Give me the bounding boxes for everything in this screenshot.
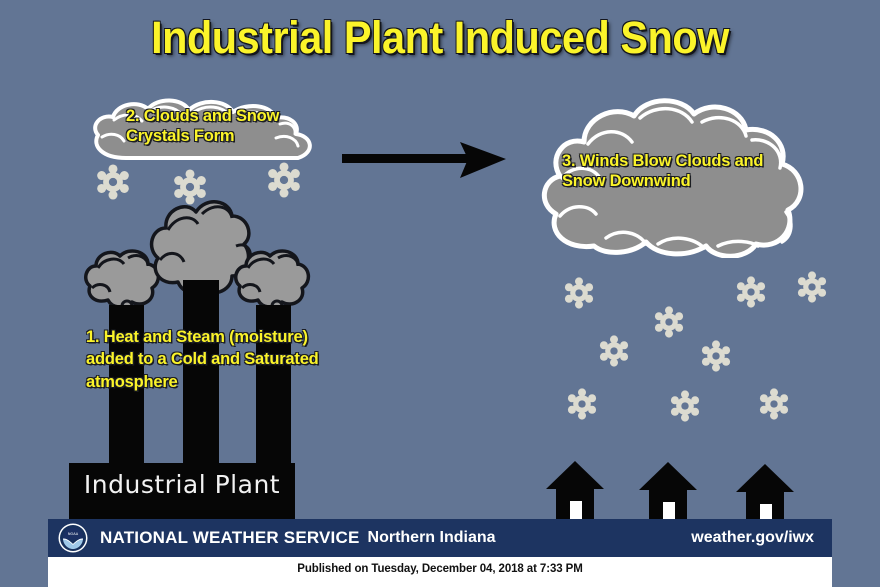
snowflake — [563, 277, 595, 314]
snowflake — [266, 162, 302, 203]
snowflake — [566, 388, 598, 425]
house — [637, 458, 699, 525]
house — [734, 460, 796, 527]
snowflake — [700, 340, 732, 377]
steam-puff — [152, 202, 251, 302]
wind-direction-arrow — [340, 138, 510, 187]
svg-text:NOAA: NOAA — [68, 532, 79, 536]
plant-name-label: Industrial Plant — [69, 470, 295, 499]
snowflake — [598, 335, 630, 372]
step-2-label: 2. Clouds and Snow Crystals Form — [126, 106, 279, 146]
page-title: Industrial Plant Induced Snow — [35, 12, 845, 64]
nws-url-label[interactable]: weather.gov/iwx — [691, 529, 814, 547]
step-1-label: 1. Heat and Steam (moisture) added to a … — [86, 326, 319, 393]
steam-puff — [86, 251, 159, 311]
snowflake — [758, 388, 790, 425]
step-3-label: 3. Winds Blow Clouds and Snow Downwind — [562, 151, 763, 191]
nws-region-label: Northern Indiana — [368, 529, 496, 547]
steam-puff — [236, 251, 309, 311]
footer-strip: Published on Tuesday, December 04, 2018 … — [48, 557, 832, 587]
nws-agency-label: NATIONAL WEATHER SERVICE — [100, 528, 360, 548]
snowflake — [172, 169, 208, 210]
published-timestamp: Published on Tuesday, December 04, 2018 … — [48, 563, 832, 575]
snowflake — [735, 276, 767, 313]
snowflake — [95, 164, 131, 205]
snowflake — [653, 306, 685, 343]
infographic-canvas: Industrial Plant Induced Snow 2. Clouds … — [0, 0, 880, 587]
house — [544, 457, 606, 524]
noaa-logo: NOAA — [58, 523, 88, 553]
snowflake — [669, 390, 701, 427]
snowflake — [796, 271, 828, 308]
footer-banner: NOAA NATIONAL WEATHER SERVICE Northern I… — [48, 519, 832, 557]
